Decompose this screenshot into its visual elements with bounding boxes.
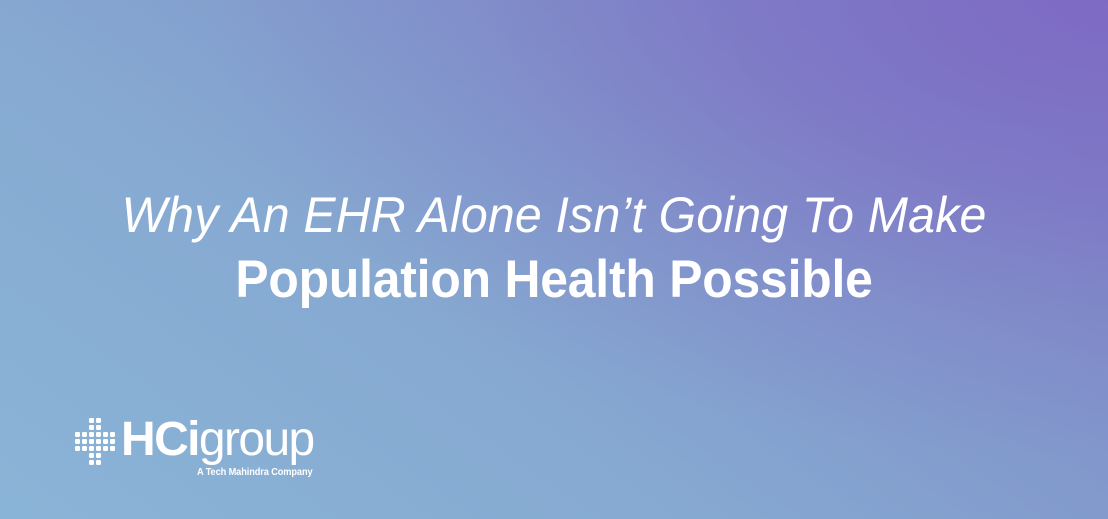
logo-wordmark-hci: HCi <box>121 413 199 466</box>
logo-text-block: HCigroup A Tech Mahindra Company <box>121 416 314 479</box>
headline-line-1: Why An EHR Alone Isn’t Going To Make <box>19 186 1088 244</box>
logo-tagline: A Tech Mahindra Company <box>197 467 312 479</box>
banner-headline: Why An EHR Alone Isn’t Going To Make Pop… <box>0 186 1108 310</box>
headline-line-2: Population Health Possible <box>33 250 1075 310</box>
logo-wordmark: HCigroup <box>121 416 314 464</box>
dot-cross-icon <box>74 418 116 466</box>
title-banner: Why An EHR Alone Isn’t Going To Make Pop… <box>0 0 1108 519</box>
logo-wordmark-group: group <box>199 413 314 466</box>
hci-group-logo: HCigroup A Tech Mahindra Company <box>74 416 314 479</box>
